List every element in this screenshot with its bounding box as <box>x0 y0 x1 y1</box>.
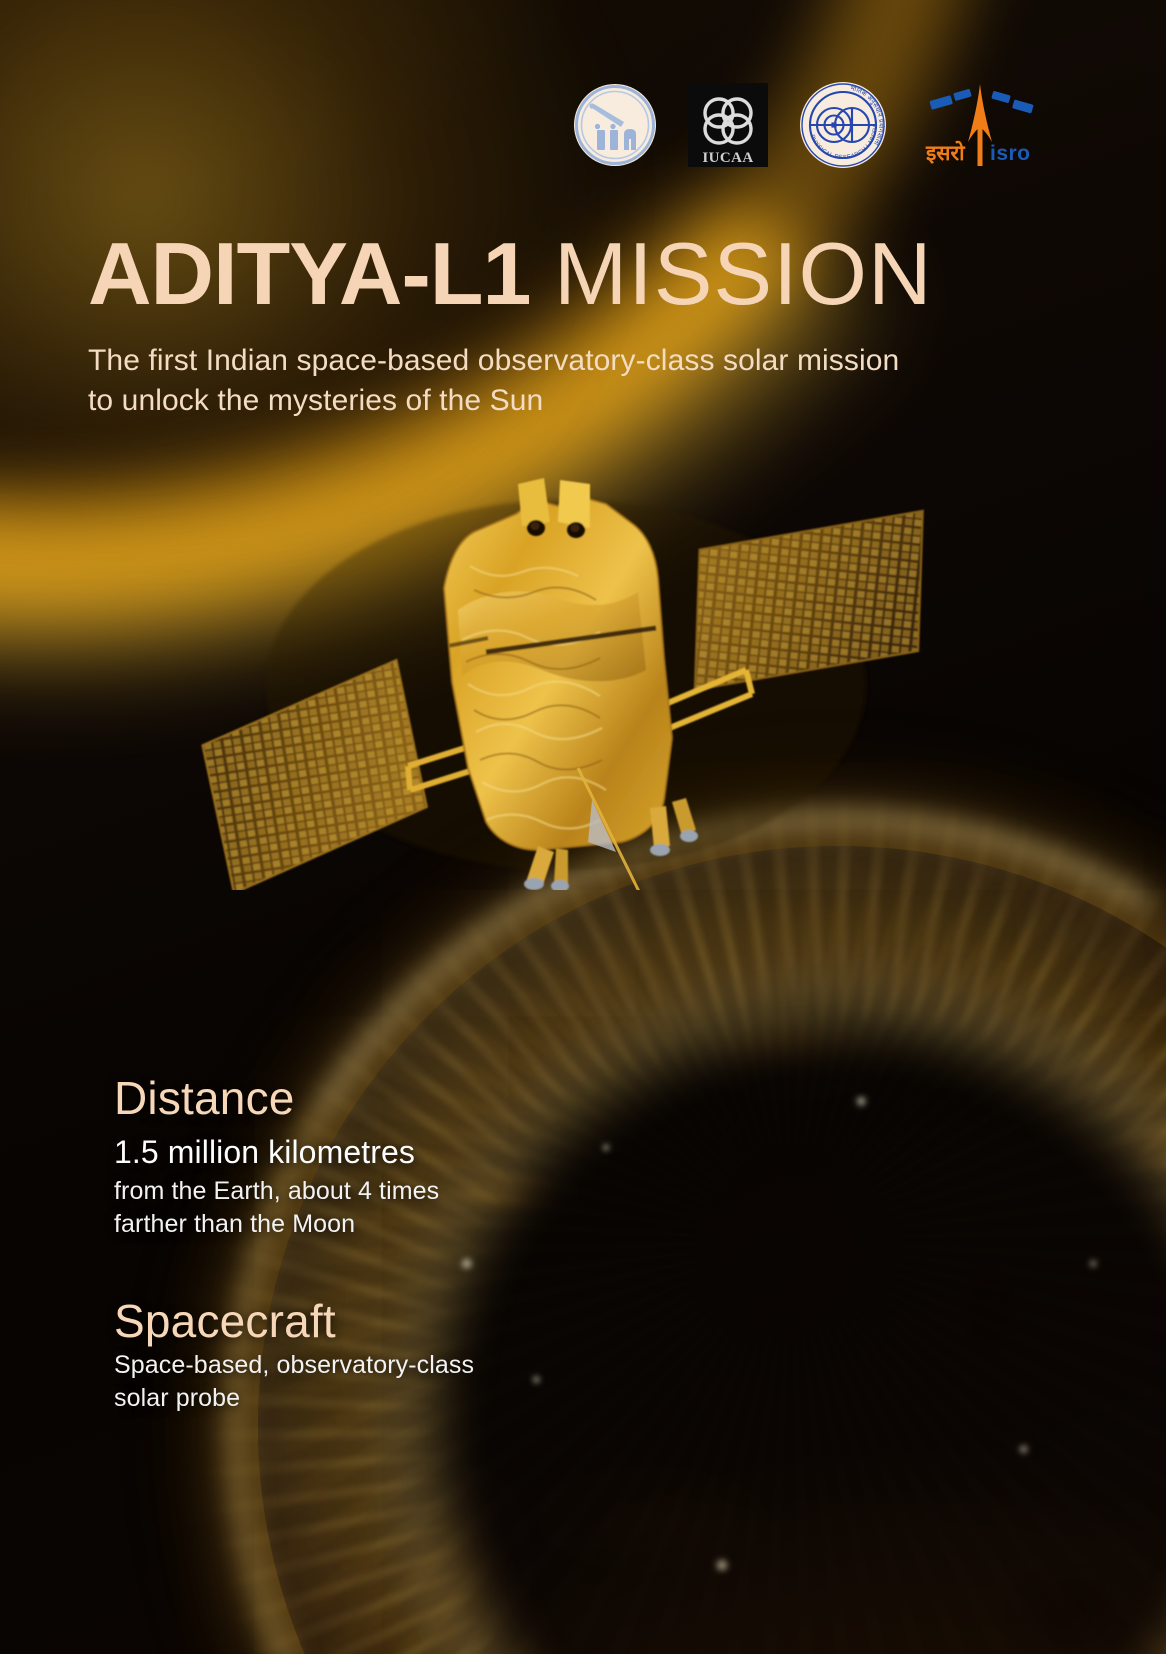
fact-distance-sub-line-1: from the Earth, about 4 times <box>114 1175 584 1208</box>
svg-text:isro: isro <box>990 142 1031 165</box>
fact-distance-lead-line-1: 1.5 million kilometres <box>114 1135 584 1171</box>
svg-text:इसरो: इसरो <box>925 140 966 165</box>
aditya-l1-spacecraft <box>186 470 946 890</box>
fact-distance-sub-line-2: farther than the Moon <box>114 1208 584 1241</box>
fact-distance-title: Distance <box>114 1074 584 1123</box>
aditya-l1-poster: IUCAA भौतिक अनुसंधान प्रयोगशाला PHYSI <box>0 0 1166 1654</box>
fact-distance-lead: 1.5 million kilometres <box>114 1135 584 1171</box>
institution-logo-row: IUCAA भौतिक अनुसंधान प्रयोगशाला PHYSI <box>572 80 1040 170</box>
fact-distance: Distance 1.5 million kilometres from the… <box>114 1074 584 1241</box>
iia-logo <box>572 82 658 168</box>
fact-spacecraft-sub-line-2: solar probe <box>114 1382 584 1415</box>
svg-text:IUCAA: IUCAA <box>702 150 753 166</box>
prl-logo: भौतिक अनुसंधान प्रयोगशाला PHYSICAL RESEA… <box>798 80 888 170</box>
fact-spacecraft: Spacecraft Space-based, observatory-clas… <box>114 1297 584 1416</box>
fact-spacecraft-sub: Space-based, observatory-class solar pro… <box>114 1349 584 1415</box>
subtitle-line-1: The first Indian space-based observatory… <box>88 341 899 381</box>
fact-spacecraft-title: Spacecraft <box>114 1297 584 1346</box>
title-bold: ADITYA-L1 <box>88 224 530 323</box>
subtitle-line-2: to unlock the mysteries of the Sun <box>88 381 899 421</box>
fact-spacecraft-sub-line-1: Space-based, observatory-class <box>114 1349 584 1382</box>
fact-distance-sub: from the Earth, about 4 times farther th… <box>114 1175 584 1241</box>
title-light: MISSION <box>554 224 933 323</box>
iucaa-logo: IUCAA <box>688 83 768 167</box>
page-subtitle: The first Indian space-based observatory… <box>88 341 899 421</box>
page-title: ADITYA-L1 MISSION <box>88 230 933 318</box>
fact-list: Distance 1.5 million kilometres from the… <box>114 1074 584 1415</box>
isro-logo: इसरो isro <box>918 80 1040 170</box>
